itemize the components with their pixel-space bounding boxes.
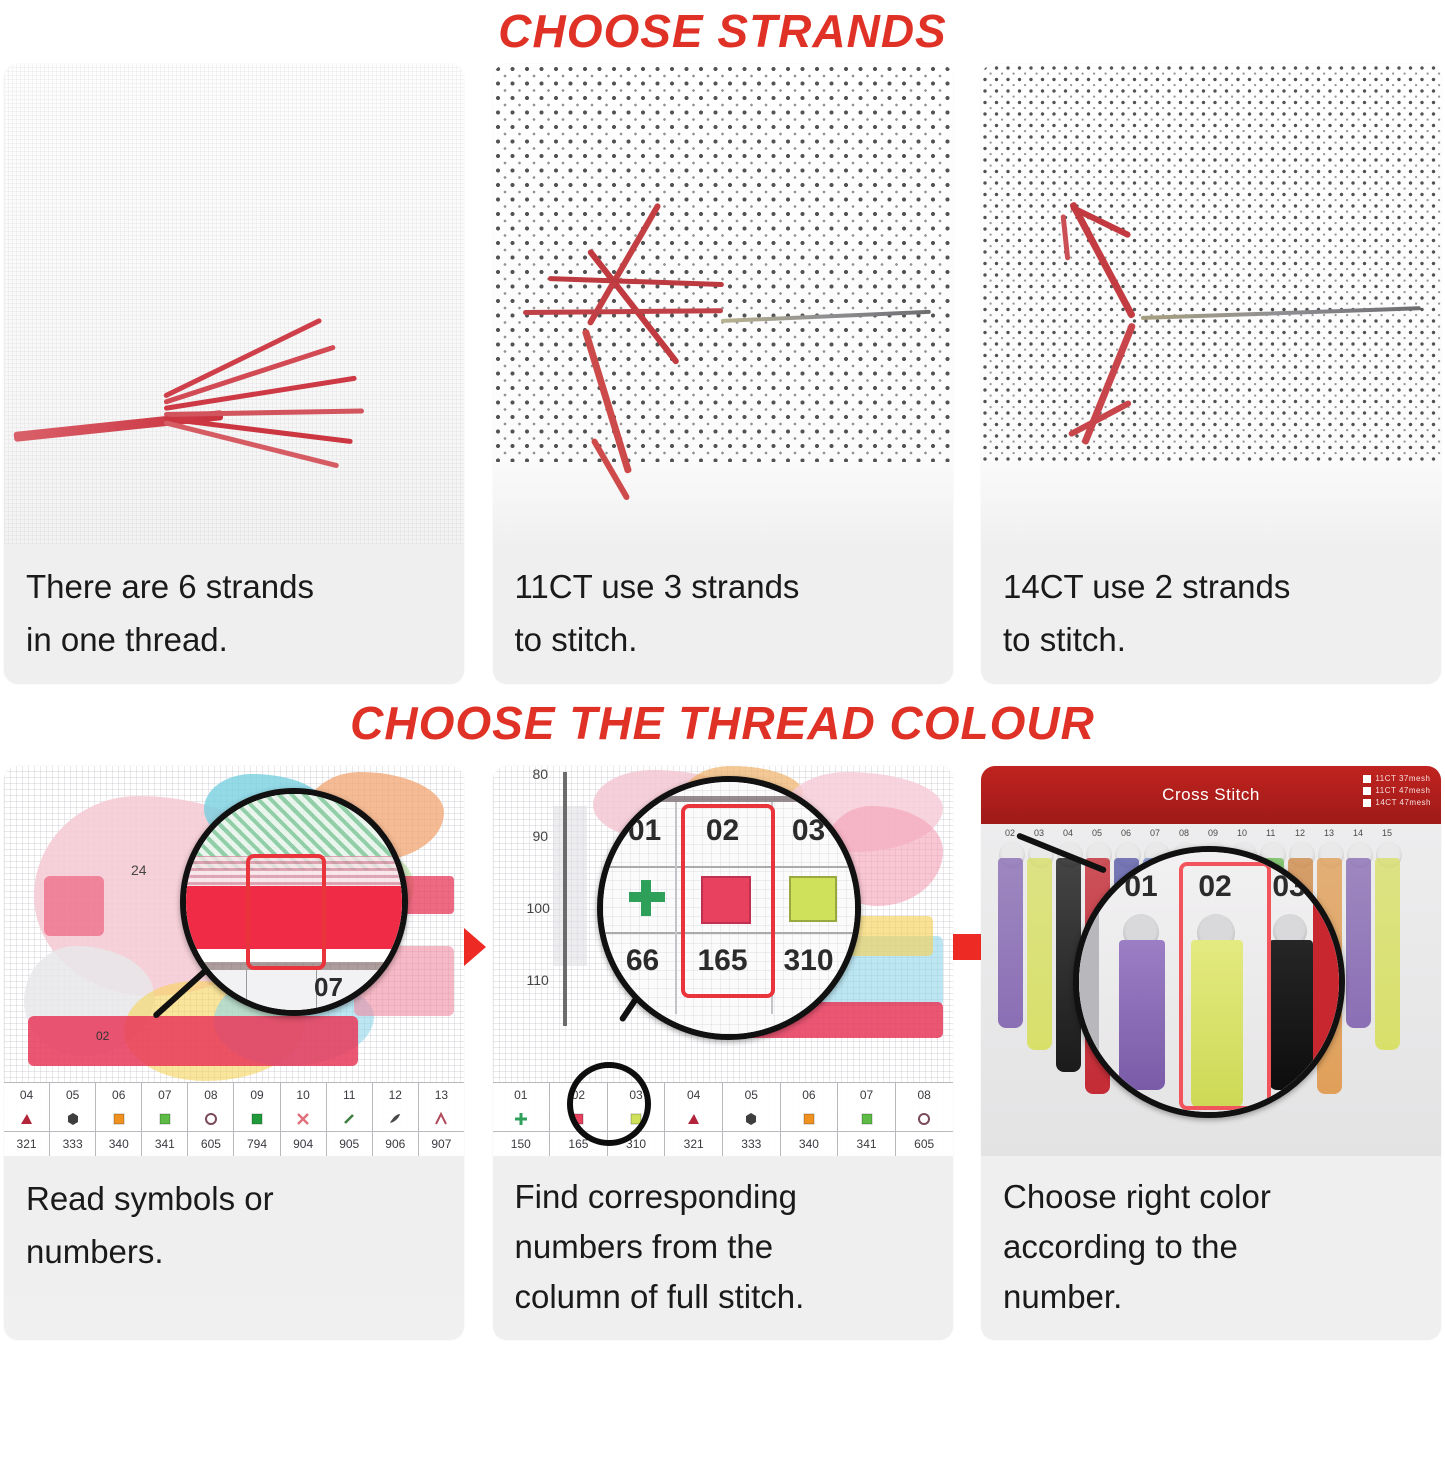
legend-column-header: 01	[493, 1083, 551, 1107]
grid-cell-label-24: 24	[131, 862, 147, 878]
legend-thread-number: 341	[838, 1132, 896, 1156]
peg-number: 05	[1092, 828, 1102, 838]
legend-symbol-cell	[838, 1107, 896, 1131]
photo-11ct-aida-needle	[493, 64, 953, 544]
legend-header-row: 0102030405060708	[493, 1083, 953, 1107]
strands-card-row: There are 6 strands in one thread. 11CT …	[0, 64, 1445, 684]
legend-column-header: 06	[781, 1083, 839, 1107]
legend-thread-number: 905	[327, 1132, 373, 1156]
magnified-number-310: 310	[775, 944, 843, 978]
legend-column-header: 13	[419, 1083, 464, 1107]
card-14ct-two-strands: 14CT use 2 strands to stitch.	[981, 64, 1441, 684]
thread-colour-card-row: 24 02 07 04050607080910111213	[0, 766, 1445, 1340]
highlight-box	[681, 804, 775, 998]
grid-cell-label-02: 02	[96, 1029, 109, 1043]
legend-thread-number: 341	[142, 1132, 188, 1156]
legend-symbol-cell	[4, 1107, 50, 1131]
legend-number-row: 150165310321333340341605	[493, 1131, 953, 1156]
plain-fabric-texture	[4, 64, 464, 544]
row-label: 80	[533, 766, 549, 782]
caption-line-3: number.	[1003, 1272, 1421, 1322]
peg-number: 03	[1034, 828, 1044, 838]
legend-highlight-circle	[567, 1062, 651, 1146]
legend-column-header: 05	[723, 1083, 781, 1107]
legend-symbol-cell	[142, 1107, 188, 1131]
caption-14ct: 14CT use 2 strands to stitch.	[981, 544, 1441, 684]
magnified-peg-01: 01	[1105, 870, 1177, 904]
legend-thread-number: 150	[493, 1132, 551, 1156]
caption-11ct: 11CT use 3 strands to stitch.	[493, 544, 953, 684]
thread-skein	[1346, 858, 1371, 1028]
legend-thread-number: 333	[50, 1132, 96, 1156]
row-label: 90	[533, 828, 549, 844]
caption-line-1: 11CT use 3 strands	[515, 560, 933, 613]
magnifier-icon: 01 02 03 66	[597, 776, 861, 1040]
pack-option: 11CT 47mesh	[1363, 786, 1431, 795]
legend-symbol-cell	[281, 1107, 327, 1131]
legend-thread-number: 906	[373, 1132, 419, 1156]
legend-symbol-cell	[96, 1107, 142, 1131]
legend-column-header: 04	[665, 1083, 723, 1107]
legend-thread-number: 605	[896, 1132, 953, 1156]
legend-column-header: 04	[4, 1083, 50, 1107]
peg-number: 06	[1121, 828, 1131, 838]
pattern-region	[28, 1016, 358, 1066]
fabric-bottom-fade	[493, 462, 953, 544]
legend-column-header: 08	[188, 1083, 234, 1107]
caption-find-numbers: Find corresponding numbers from the colu…	[493, 1156, 953, 1340]
peg-number: 07	[1150, 828, 1160, 838]
legend-symbol-cell	[723, 1107, 781, 1131]
pack-title: Cross Stitch	[1162, 785, 1260, 805]
pack-header: Cross Stitch 11CT 37mesh 11CT 47mesh 14C…	[981, 766, 1441, 824]
legend-thread-number: 340	[781, 1132, 839, 1156]
photo-thread-organizer: Cross Stitch 11CT 37mesh 11CT 47mesh 14C…	[981, 766, 1441, 1156]
legend-number-row: 321333340341605794904905906907	[4, 1131, 464, 1156]
legend-thread-number: 321	[665, 1132, 723, 1156]
peg-number: 02	[1005, 828, 1015, 838]
legend-column-header: 12	[373, 1083, 419, 1107]
pack-options: 11CT 37mesh 11CT 47mesh 14CT 47mesh	[1363, 774, 1431, 807]
photo-six-strand-thread	[4, 64, 464, 544]
magnified-number-66: 66	[613, 944, 673, 978]
legend-symbol-cell	[234, 1107, 280, 1131]
magnified-column-03: 03	[779, 814, 839, 848]
caption-line-2: numbers from the	[515, 1222, 933, 1272]
caption-line-2: to stitch.	[1003, 613, 1421, 666]
caption-line-1: 14CT use 2 strands	[1003, 560, 1421, 613]
caption-line-1: Choose right color	[1003, 1172, 1421, 1222]
peg-number: 10	[1237, 828, 1247, 838]
chart-axis-vertical	[563, 772, 567, 1026]
peg-number: 15	[1382, 828, 1392, 838]
legend-column-header: 08	[896, 1083, 953, 1107]
legend-column-header: 11	[327, 1083, 373, 1107]
fabric-bottom-fade	[981, 462, 1441, 544]
legend-symbol-cell	[50, 1107, 96, 1131]
highlight-box	[1179, 862, 1271, 1110]
magnifier-icon: 01 02 03	[1073, 846, 1345, 1118]
legend-symbol-row	[493, 1107, 953, 1131]
legend-column-header: 05	[50, 1083, 96, 1107]
legend-thread-number: 904	[281, 1132, 327, 1156]
card-six-strands: There are 6 strands in one thread.	[4, 64, 464, 684]
legend-symbol-cell	[373, 1107, 419, 1131]
card-read-symbols: 24 02 07 04050607080910111213	[4, 766, 464, 1340]
aida-fabric-11ct	[493, 64, 953, 467]
peg-number: 12	[1295, 828, 1305, 838]
pack-option: 11CT 37mesh	[1363, 774, 1431, 783]
magnifier-icon: 07	[180, 788, 408, 1016]
legend-table: 0102030405060708 15016531032133334034160…	[493, 1082, 953, 1156]
legend-thread-number: 794	[234, 1132, 280, 1156]
caption-line-1: Read symbols or	[26, 1172, 444, 1225]
legend-symbol-cell	[781, 1107, 839, 1131]
legend-column-header: 09	[234, 1083, 280, 1107]
legend-symbol-cell	[188, 1107, 234, 1131]
aida-fabric-14ct	[981, 64, 1441, 467]
legend-column-header: 06	[96, 1083, 142, 1107]
pattern-region	[553, 806, 587, 966]
legend-column-header: 07	[142, 1083, 188, 1107]
peg-number: 09	[1208, 828, 1218, 838]
legend-column-header: 10	[281, 1083, 327, 1107]
card-choose-color: Cross Stitch 11CT 37mesh 11CT 47mesh 14C…	[981, 766, 1441, 1340]
legend-symbol-cell	[896, 1107, 953, 1131]
page-title-choose-thread-colour: CHOOSE THE THREAD COLOUR	[0, 684, 1445, 752]
thread-skein	[1027, 858, 1052, 1050]
photo-14ct-aida-needle	[981, 64, 1441, 544]
caption-line-1: There are 6 strands	[26, 560, 444, 613]
thread-skein	[998, 858, 1023, 1028]
legend-symbol-cell	[419, 1107, 464, 1131]
legend-column-header: 07	[838, 1083, 896, 1107]
caption-line-1: Find corresponding	[515, 1172, 933, 1222]
peg-number: 08	[1179, 828, 1189, 838]
highlight-box	[246, 854, 326, 970]
legend-thread-number: 340	[96, 1132, 142, 1156]
peg-number: 13	[1324, 828, 1334, 838]
caption-line-2: numbers.	[26, 1225, 444, 1278]
page-title-choose-strands: CHOOSE STRANDS	[0, 0, 1445, 60]
photo-pattern-legend: 80 90 100 110 01 02	[493, 766, 953, 1156]
row-label: 110	[527, 972, 549, 988]
legend-symbol-row	[4, 1107, 464, 1131]
legend-thread-number: 321	[4, 1132, 50, 1156]
photo-pattern-chart: 24 02 07 04050607080910111213	[4, 766, 464, 1156]
legend-header-row: 04050607080910111213	[4, 1083, 464, 1107]
peg-number: 11	[1266, 828, 1275, 838]
caption-line-2: to stitch.	[515, 613, 933, 666]
caption-line-3: column of full stitch.	[515, 1272, 933, 1322]
pack-option: 14CT 47mesh	[1363, 798, 1431, 807]
peg-number: 04	[1063, 828, 1073, 838]
magnified-column-01: 01	[617, 814, 673, 848]
legend-symbol-cell	[665, 1107, 723, 1131]
card-11ct-three-strands: 11CT use 3 strands to stitch.	[493, 64, 953, 684]
legend-symbol-cell	[493, 1107, 551, 1131]
card-find-numbers: 80 90 100 110 01 02	[493, 766, 953, 1340]
caption-choose-color: Choose right color according to the numb…	[981, 1156, 1441, 1340]
thread-skein	[1375, 858, 1400, 1050]
peg-number: 14	[1353, 828, 1363, 838]
legend-thread-number: 605	[188, 1132, 234, 1156]
caption-read-symbols: Read symbols or numbers.	[4, 1156, 464, 1296]
legend-thread-number: 333	[723, 1132, 781, 1156]
row-label: 100	[527, 900, 550, 916]
legend-table: 04050607080910111213 3213333403416057949…	[4, 1082, 464, 1156]
caption-line-2: according to the	[1003, 1222, 1421, 1272]
legend-symbol-cell	[327, 1107, 373, 1131]
magnified-column-label: 07	[314, 972, 343, 1003]
caption-six-strands: There are 6 strands in one thread.	[4, 544, 464, 684]
thread-skein	[1119, 940, 1165, 1090]
caption-line-2: in one thread.	[26, 613, 444, 666]
legend-thread-number: 907	[419, 1132, 464, 1156]
thread-skein	[1269, 940, 1313, 1090]
pattern-region	[44, 876, 104, 936]
